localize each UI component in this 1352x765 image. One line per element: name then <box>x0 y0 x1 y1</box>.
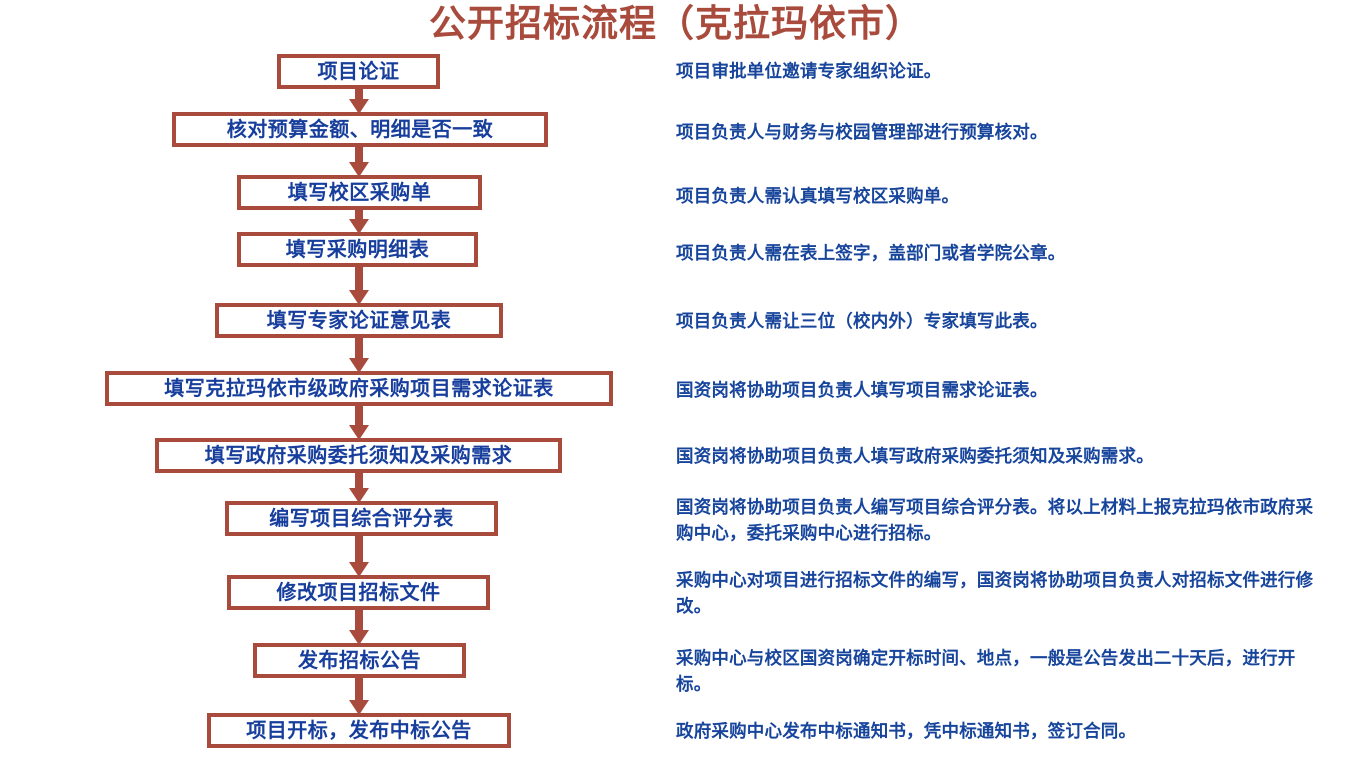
flow-connector-arrow-1 <box>346 88 372 114</box>
flow-node-1[interactable]: 项目论证 <box>277 54 440 89</box>
slide-canvas: 公开招标流程（克拉玛依市） 项目论证核对预算金额、明细是否一致填写校区采购单填写… <box>0 0 1352 765</box>
flow-node-label: 核对预算金额、明细是否一致 <box>227 120 494 140</box>
flow-node-8[interactable]: 编写项目综合评分表 <box>225 501 498 536</box>
flow-connector-arrow-4 <box>346 266 372 305</box>
flow-node-label: 填写采购明细表 <box>286 240 430 260</box>
description-item-11: 政府采购中心发布中标通知书，凭中标通知书，签订合同。 <box>676 718 1316 744</box>
flow-connector-arrow-5 <box>346 337 372 373</box>
flow-node-label: 发布招标公告 <box>298 651 421 671</box>
flow-node-label: 填写政府采购委托须知及采购需求 <box>205 446 513 466</box>
flow-node-label: 填写克拉玛依市级政府采购项目需求论证表 <box>164 379 554 399</box>
description-column: 项目审批单位邀请专家组织论证。项目负责人与财务与校园管理部进行预算核对。项目负责… <box>676 0 1336 765</box>
description-item-5: 项目负责人需让三位（校内外）专家填写此表。 <box>676 308 1316 334</box>
flow-node-label: 项目论证 <box>318 62 400 82</box>
flow-node-label: 填写校区采购单 <box>288 183 432 203</box>
description-item-2: 项目负责人与财务与校园管理部进行预算核对。 <box>676 119 1316 145</box>
flow-connector-arrow-9 <box>346 609 372 645</box>
description-item-3: 项目负责人需认真填写校区采购单。 <box>676 183 1316 209</box>
flow-node-label: 填写专家论证意见表 <box>267 311 452 331</box>
flow-node-label: 编写项目综合评分表 <box>269 509 454 529</box>
flow-node-4[interactable]: 填写采购明细表 <box>237 232 478 267</box>
flow-connector-arrow-10 <box>346 677 372 715</box>
description-item-7: 国资岗将协助项目负责人填写政府采购委托须知及采购需求。 <box>676 443 1316 469</box>
flow-node-label: 项目开标，发布中标公告 <box>246 721 472 741</box>
flow-connector-arrow-8 <box>346 535 372 577</box>
flow-node-3[interactable]: 填写校区采购单 <box>237 175 482 210</box>
flow-node-2[interactable]: 核对预算金额、明细是否一致 <box>172 112 548 147</box>
flow-node-label: 修改项目招标文件 <box>277 583 441 603</box>
flow-node-9[interactable]: 修改项目招标文件 <box>227 575 490 610</box>
flow-node-7[interactable]: 填写政府采购委托须知及采购需求 <box>155 438 562 473</box>
flow-node-5[interactable]: 填写专家论证意见表 <box>215 303 503 338</box>
flowchart-column: 项目论证核对预算金额、明细是否一致填写校区采购单填写采购明细表填写专家论证意见表… <box>0 0 660 765</box>
description-item-9: 采购中心对项目进行招标文件的编写，国资岗将协助项目负责人对招标文件进行修改。 <box>676 567 1316 619</box>
flow-connector-arrow-6 <box>346 405 372 440</box>
flow-connector-arrow-3 <box>346 209 372 234</box>
flow-connector-arrow-7 <box>346 472 372 503</box>
description-item-1: 项目审批单位邀请专家组织论证。 <box>676 58 1316 84</box>
description-item-8: 国资岗将协助项目负责人编写项目综合评分表。将以上材料上报克拉玛依市政府采购中心，… <box>676 494 1316 546</box>
description-item-6: 国资岗将协助项目负责人填写项目需求论证表。 <box>676 377 1316 403</box>
description-item-10: 采购中心与校区国资岗确定开标时间、地点，一般是公告发出二十天后，进行开标。 <box>676 645 1316 697</box>
flow-node-10[interactable]: 发布招标公告 <box>253 643 466 678</box>
flow-node-6[interactable]: 填写克拉玛依市级政府采购项目需求论证表 <box>105 371 613 406</box>
flow-connector-arrow-2 <box>346 146 372 177</box>
flow-node-11[interactable]: 项目开标，发布中标公告 <box>207 713 511 748</box>
description-item-4: 项目负责人需在表上签字，盖部门或者学院公章。 <box>676 240 1316 266</box>
